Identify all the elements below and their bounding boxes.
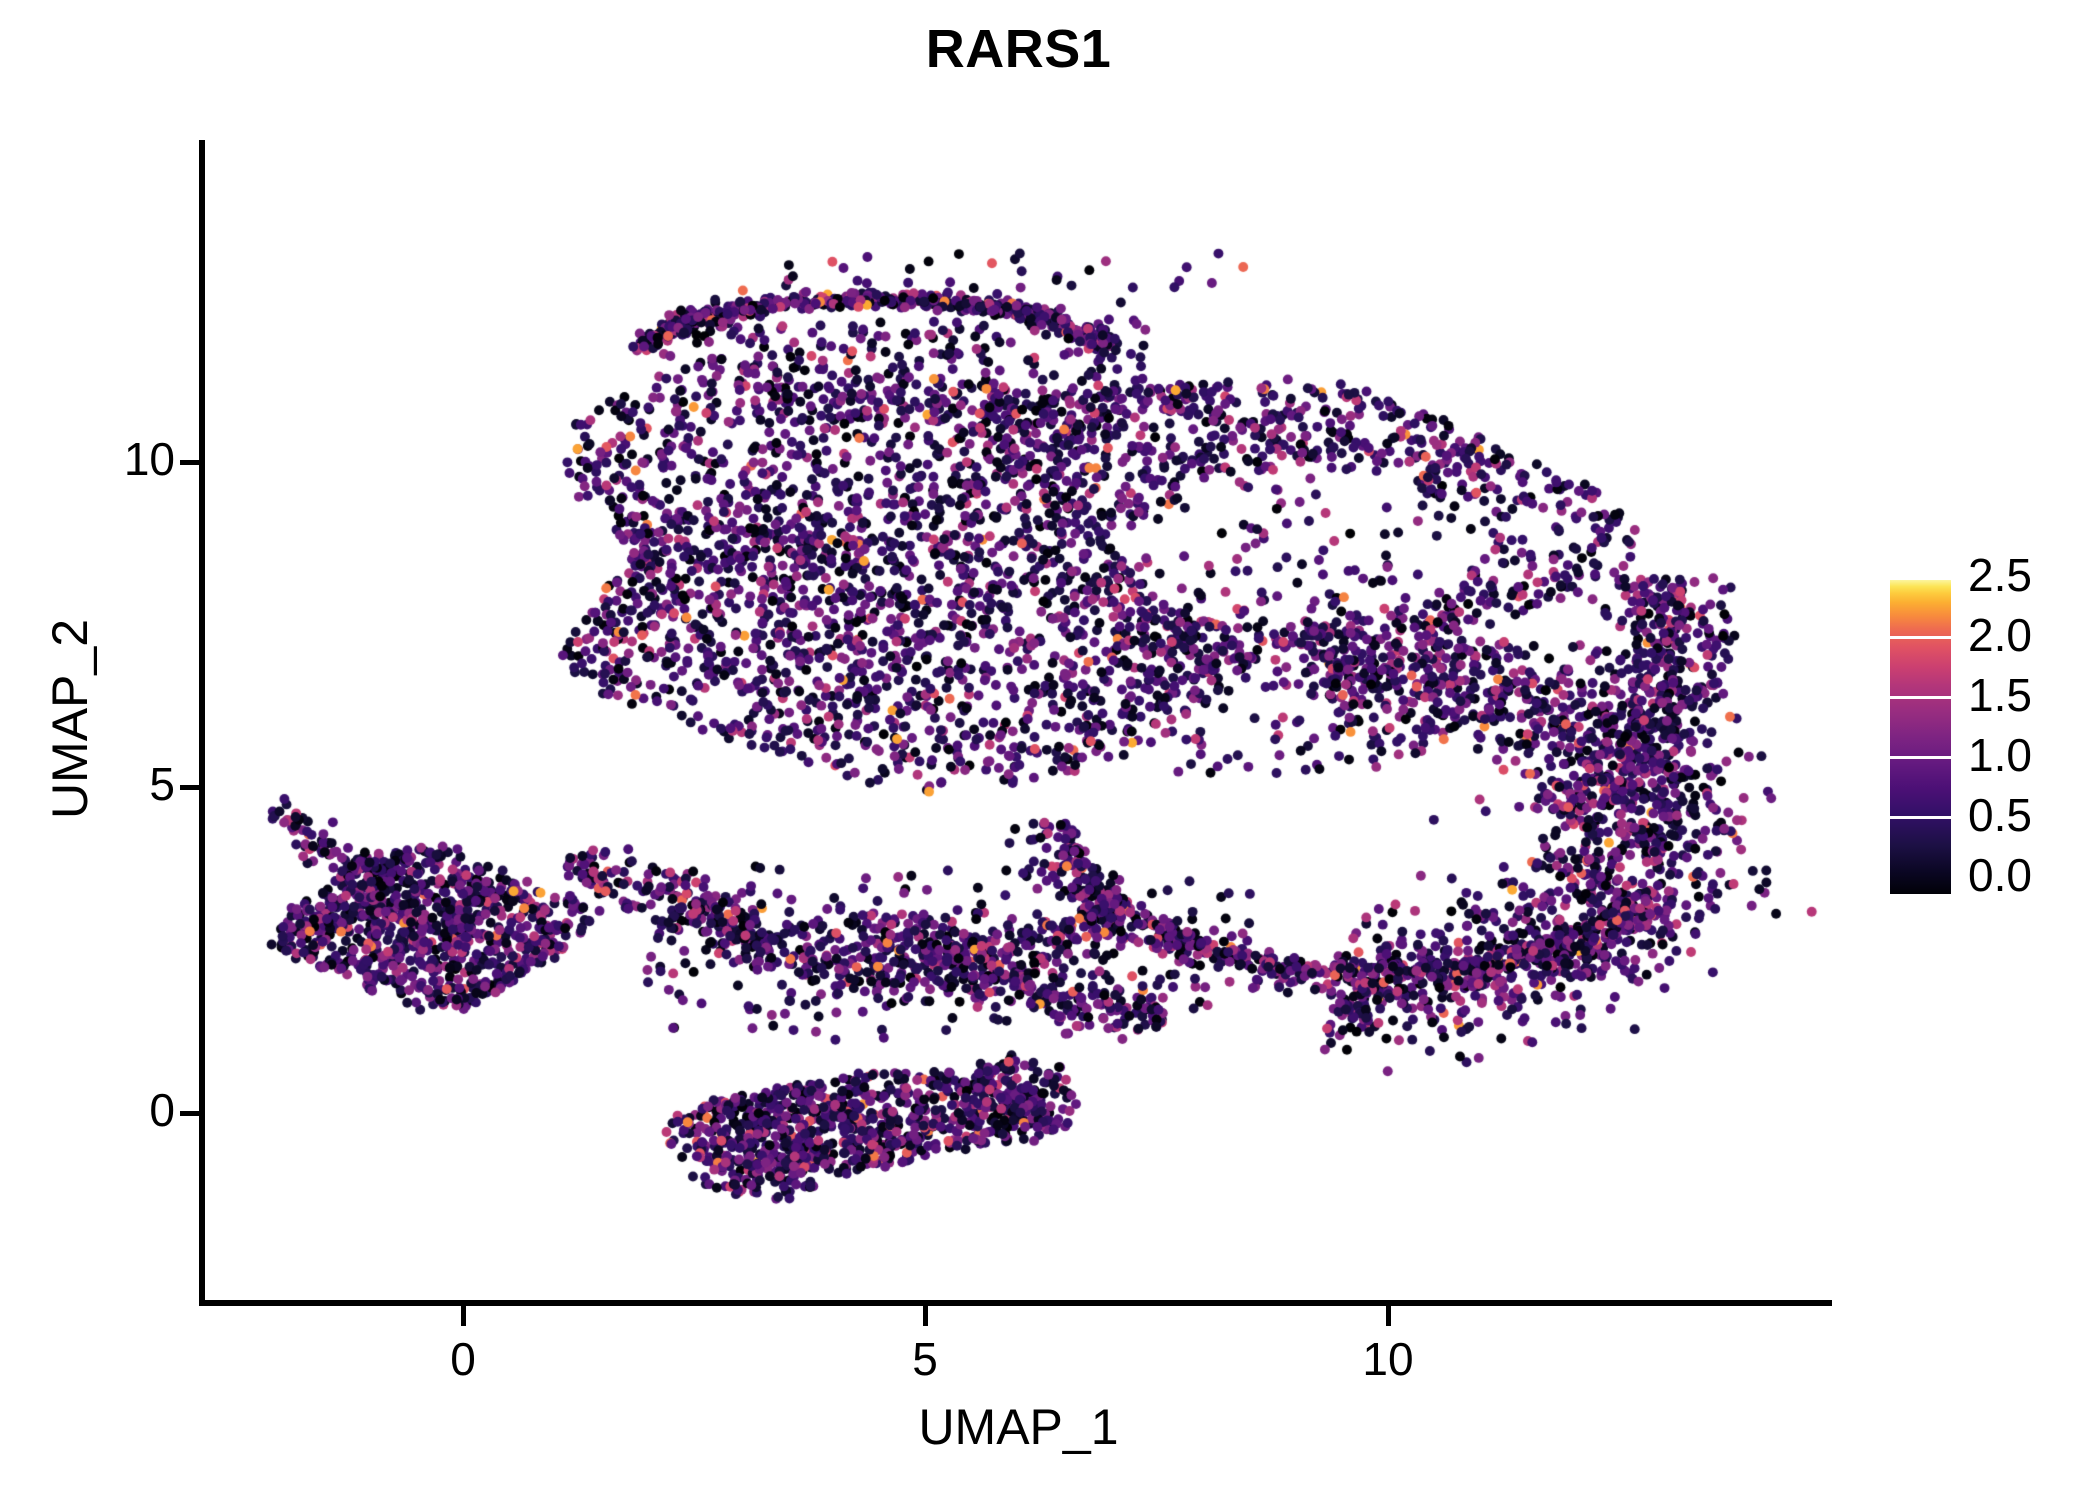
colorbar-tick-0-5 (1890, 816, 1951, 819)
x-axis-line (199, 1300, 1832, 1306)
x-axis-title: UMAP_1 (205, 1398, 1832, 1456)
x-tick-label-5: 5 (845, 1332, 1005, 1386)
y-tick-mark-0 (180, 1111, 200, 1116)
colorbar-label-1-5: 1.5 (1968, 672, 2032, 718)
colorbar-tick-0-0 (1890, 894, 1951, 897)
scatter-plot-panel (205, 140, 1832, 1303)
page-title: RARS1 (205, 22, 1832, 76)
y-axis-title: UMAP_2 (41, 319, 99, 1119)
x-tick-label-0: 0 (383, 1332, 543, 1386)
x-tick-mark-5 (923, 1306, 928, 1326)
scatter-points-layer (205, 140, 1832, 1303)
color-legend: 2.5 2.0 1.5 1.0 0.5 0.0 (1888, 560, 2088, 920)
colorbar-label-1-0: 1.0 (1968, 732, 2032, 778)
colorbar-label-0-5: 0.5 (1968, 792, 2032, 838)
x-tick-mark-10 (1386, 1306, 1391, 1326)
colorbar-tick-2-0 (1890, 636, 1951, 639)
colorbar-tick-2-5 (1890, 577, 1951, 580)
x-tick-mark-0 (461, 1306, 466, 1326)
colorbar-label-2-0: 2.0 (1968, 612, 2032, 658)
colorbar-label-0-0: 0.0 (1968, 852, 2032, 898)
colorbar-label-2-5: 2.5 (1968, 552, 2032, 598)
y-axis-line (199, 140, 205, 1306)
x-tick-label-10: 10 (1308, 1332, 1468, 1386)
figure-root: RARS1 10 5 0 0 5 10 UMAP_1 UMAP_2 2.5 2.… (0, 0, 2100, 1500)
y-tick-mark-5 (180, 785, 200, 790)
y-tick-mark-10 (180, 460, 200, 465)
colorbar-tick-1-5 (1890, 696, 1951, 699)
colorbar-gradient (1890, 577, 1951, 897)
colorbar-tick-1-0 (1890, 756, 1951, 759)
